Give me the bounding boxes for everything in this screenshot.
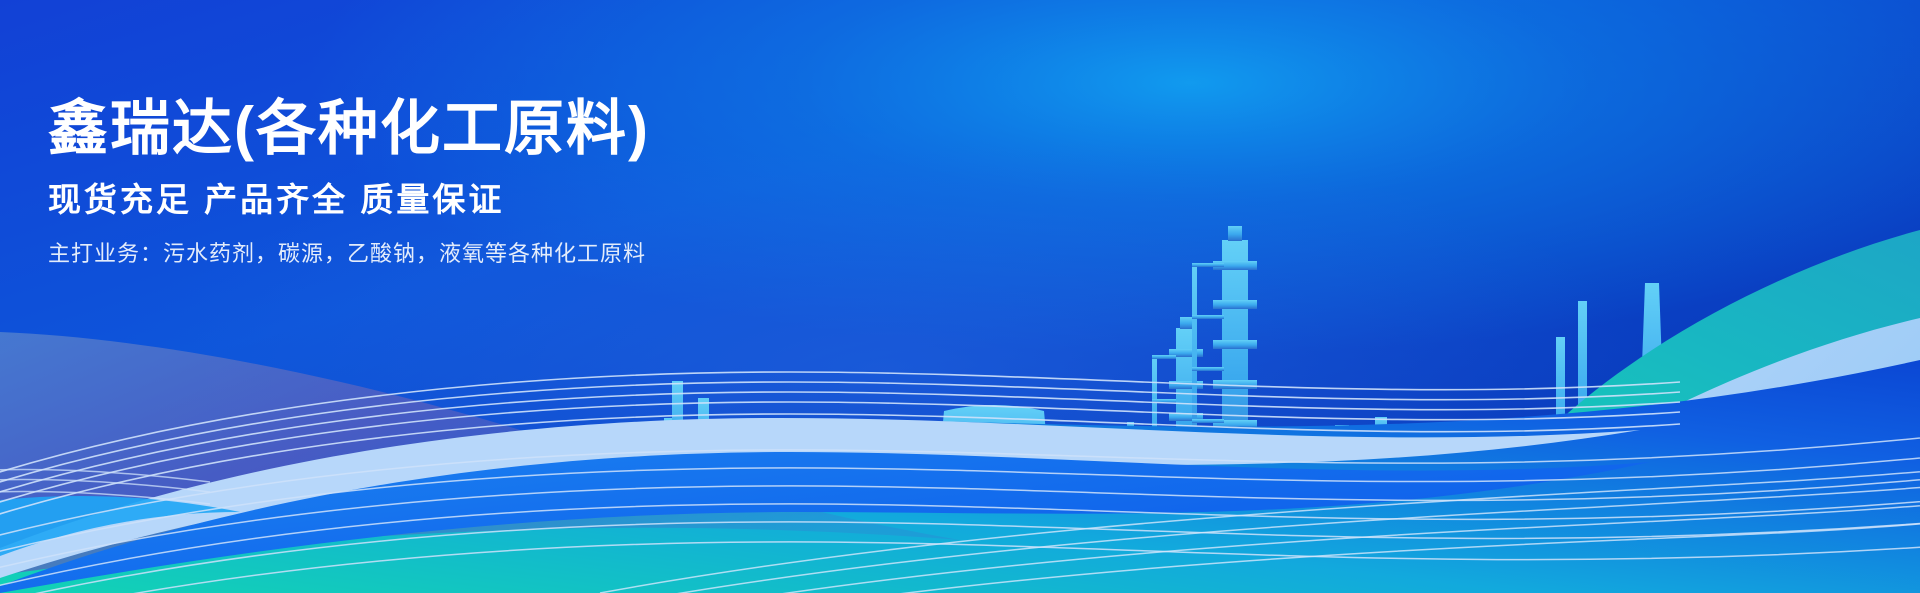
promo-banner: 鑫瑞达(各种化工原料) 现货充足 产品齐全 质量保证 主打业务：污水药剂，碳源，… (0, 0, 1920, 593)
subtitle: 现货充足 产品齐全 质量保证 (48, 180, 650, 220)
headline-text-block: 鑫瑞达(各种化工原料) 现货充足 产品齐全 质量保证 主打业务：污水药剂，碳源，… (48, 96, 650, 268)
page-title: 鑫瑞达(各种化工原料) (48, 96, 650, 162)
business-description: 主打业务：污水药剂，碳源，乙酸钠，液氧等各种化工原料 (48, 240, 650, 269)
artwork-layer (0, 0, 1920, 593)
